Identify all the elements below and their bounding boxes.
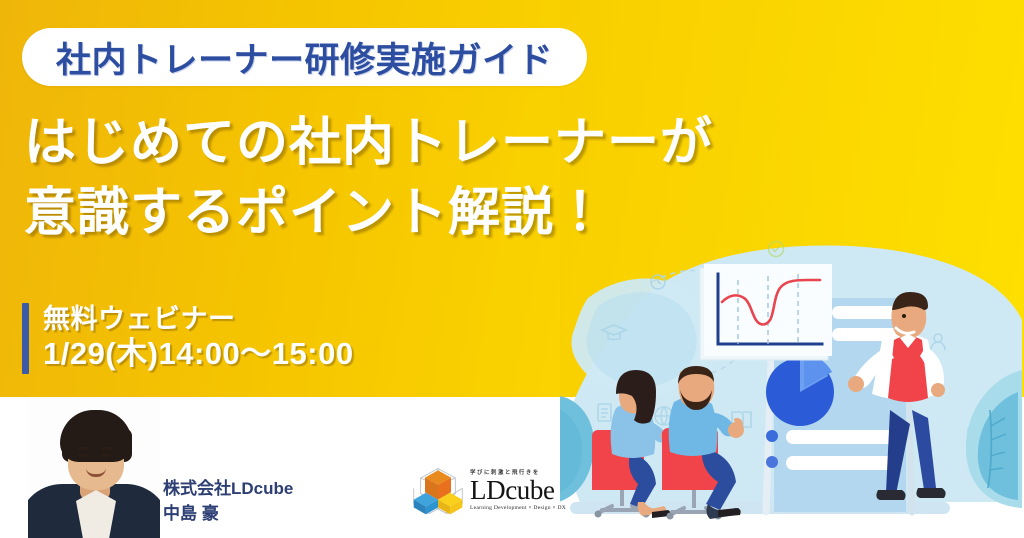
speaker-company: 株式会社LDcube <box>163 477 293 502</box>
bullet-2 <box>766 456 778 468</box>
list-bar-1 <box>786 430 898 444</box>
chart-sheet <box>700 264 832 360</box>
speaker-name: 中島 豪 <box>163 502 293 527</box>
webinar-type: 無料ウェビナー <box>43 303 354 335</box>
speaker-info: 株式会社LDcube 中島 豪 <box>163 477 293 526</box>
headline-line-2: 意識するポイント解説！ <box>24 178 713 248</box>
headline-line-1: はじめての社内トレーナーが <box>24 108 713 178</box>
guide-badge: 社内トレーナー研修実施ガイド <box>22 28 587 86</box>
webinar-datetime: 1/29(木)14:00〜15:00 <box>43 335 354 374</box>
accent-bar <box>22 303 29 374</box>
bullet-1 <box>766 430 778 442</box>
webinar-banner: 社内トレーナー研修実施ガイド はじめての社内トレーナーが 意識するポイント解説！… <box>0 0 1024 538</box>
presentation-illustration <box>560 240 1024 538</box>
presenter-hand-left <box>848 376 864 392</box>
presenter-shoe-left <box>876 490 905 500</box>
logo-subtitle: Learning Development × Design × DX <box>470 506 566 512</box>
ldcube-cube-icon <box>412 465 464 517</box>
guide-badge-label: 社内トレーナー研修実施ガイド <box>56 32 553 83</box>
presenter-shoe-right <box>916 488 945 498</box>
list-bar-2 <box>786 456 898 470</box>
logo-wordmark: LDcube <box>470 477 566 504</box>
webinar-info: 無料ウェビナー 1/29(木)14:00〜15:00 <box>22 303 354 374</box>
presenter-hand-right <box>931 383 945 397</box>
speaker-photo <box>28 398 160 538</box>
page-title: はじめての社内トレーナーが 意識するポイント解説！ <box>24 108 713 248</box>
ldcube-logo: 学びに刺激と飛行きを LDcube Learning Development ×… <box>412 463 572 519</box>
